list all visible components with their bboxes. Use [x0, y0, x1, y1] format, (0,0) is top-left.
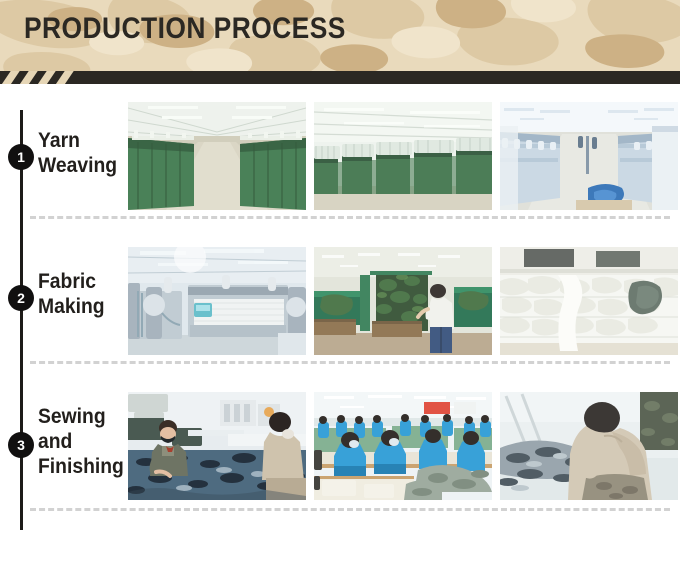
- step-label-2: Fabric Making: [38, 269, 119, 319]
- process-step-3: 3 Sewing and Finishing: [0, 382, 680, 514]
- sewing-finishing-photo-3[interactable]: [500, 392, 678, 500]
- sewing-finishing-photo-1[interactable]: [128, 392, 306, 500]
- yarn-weaving-photo-1[interactable]: [128, 102, 306, 210]
- fabric-making-photo-2[interactable]: [314, 247, 492, 355]
- step-label-line: Making: [38, 294, 119, 319]
- sewing-finishing-photo-2[interactable]: [314, 392, 492, 500]
- page-title: PRODUCTION PROCESS: [24, 11, 346, 47]
- step-marker-3: 3: [8, 432, 34, 458]
- step-3-thumbnails: [128, 392, 678, 500]
- yarn-weaving-photo-2[interactable]: [314, 102, 492, 210]
- step-divider-2: [30, 361, 670, 364]
- step-label-line: and: [38, 429, 119, 454]
- process-step-2: 2 Fabric Making: [0, 237, 680, 369]
- fabric-making-photo-1[interactable]: [128, 247, 306, 355]
- step-label-line: Finishing: [38, 454, 119, 479]
- step-marker-1: 1: [8, 144, 34, 170]
- accent-stripe-1: [0, 71, 22, 84]
- accent-stripe-4: [53, 71, 77, 84]
- step-divider-1: [30, 216, 670, 219]
- step-label-3: Sewing and Finishing: [38, 404, 119, 479]
- header-accent-bar: [0, 71, 680, 84]
- step-divider-3: [30, 508, 670, 511]
- process-step-1: 1 Yarn Weaving: [0, 92, 680, 224]
- page-header: PRODUCTION PROCESS: [0, 0, 680, 84]
- step-label-line: Fabric: [38, 269, 119, 294]
- step-label-line: Yarn: [38, 128, 119, 153]
- step-2-thumbnails: [128, 247, 678, 355]
- step-label-1: Yarn Weaving: [38, 128, 119, 178]
- accent-stripe-3: [35, 71, 59, 84]
- fabric-making-photo-3[interactable]: [500, 247, 678, 355]
- step-1-thumbnails: [128, 102, 678, 210]
- step-marker-2: 2: [8, 285, 34, 311]
- process-content: 1 Yarn Weaving: [0, 84, 680, 581]
- step-label-line: Weaving: [38, 153, 119, 178]
- yarn-weaving-photo-3[interactable]: [500, 102, 678, 210]
- accent-stripe-2: [17, 71, 41, 84]
- step-label-line: Sewing: [38, 404, 119, 429]
